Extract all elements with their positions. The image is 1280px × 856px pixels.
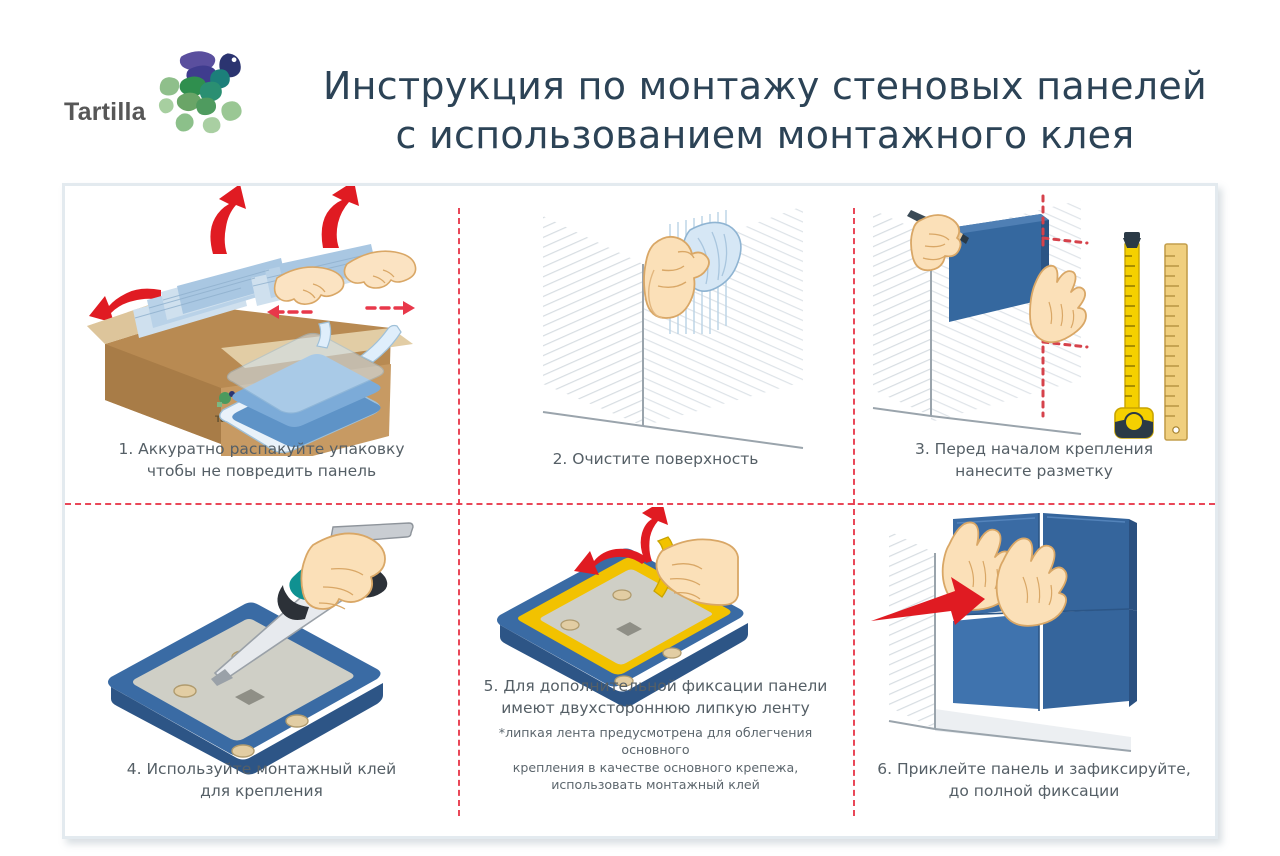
step-cell-5: 5. Для дополнительной фиксации панели им…: [458, 503, 853, 836]
illustration-clean-surface: [458, 186, 853, 466]
step-caption-6: 6. Приклейте панель и зафиксируйте, до п…: [853, 758, 1215, 802]
title-line-2: с использованием монтажного клея: [285, 111, 1245, 160]
caption-line-2: нанесите разметку: [955, 462, 1113, 480]
caption-line-1: 6. Приклейте панель и зафиксируйте,: [877, 760, 1191, 778]
step-cell-2: 2. Очистите поверхность: [458, 186, 853, 503]
divider-horizontal: [65, 503, 1215, 505]
caption-line-2: для крепления: [200, 782, 323, 800]
caption-line-1: 5. Для дополнительной фиксации панели: [484, 677, 828, 695]
step-caption-5: 5. Для дополнительной фиксации панели им…: [458, 675, 853, 794]
fineprint-line-2: крепления в качестве основного крепежа,: [513, 760, 798, 775]
instruction-poster: Tartilla: [0, 0, 1280, 856]
page-title: Инструкция по монтажу стеновых панелей с…: [285, 62, 1245, 159]
divider-vertical-1: [458, 208, 460, 816]
brand-name: Tartilla: [64, 54, 146, 127]
caption-line-1: 4. Используйте монтажный клей: [127, 760, 397, 778]
step-cell-1: Tartilla: [65, 186, 458, 503]
step-cell-6: 6. Приклейте панель и зафиксируйте, до п…: [853, 503, 1215, 836]
steps-frame: Tartilla: [62, 183, 1218, 839]
step-cell-3: 3. Перед началом крепления нанесите разм…: [853, 186, 1215, 503]
caption-line-1: 3. Перед началом крепления: [915, 440, 1153, 458]
fineprint-line-3: использовать монтажный клей: [551, 777, 760, 792]
step-caption-3: 3. Перед началом крепления нанесите разм…: [853, 438, 1215, 482]
title-line-1: Инструкция по монтажу стеновых панелей: [323, 64, 1207, 108]
step-caption-2: 2. Очистите поверхность: [458, 448, 853, 470]
step-caption-4: 4. Используйте монтажный клей для крепле…: [65, 758, 458, 802]
caption-line-2: чтобы не повредить панель: [147, 462, 376, 480]
illustration-apply-glue: [65, 509, 458, 779]
caption-line-2: до полной фиксации: [949, 782, 1120, 800]
fineprint-line-1: *липкая лента предусмотрена для облегчен…: [499, 725, 812, 757]
step-caption-1: 1. Аккуратно распакуйте упаковку чтобы н…: [65, 438, 458, 482]
caption-line-1: 2. Очистите поверхность: [553, 450, 759, 468]
step-cell-4: 4. Используйте монтажный клей для крепле…: [65, 503, 458, 836]
caption-line-1: 1. Аккуратно распакуйте упаковку: [118, 440, 404, 458]
brand-lockup: Tartilla: [64, 46, 248, 134]
steps-grid: Tartilla: [65, 186, 1215, 836]
poster-header: Tartilla: [0, 0, 1280, 180]
caption-line-2: имеют двухстороннюю липкую ленту: [501, 699, 810, 717]
illustration-press-panels: [853, 503, 1215, 763]
divider-vertical-2: [853, 208, 855, 816]
illustration-unpack-box: Tartilla: [65, 186, 458, 456]
step-5-fineprint: *липкая лента предусмотрена для облегчен…: [474, 724, 837, 794]
illustration-mark-wall: [853, 186, 1215, 456]
turtle-logo-icon: [156, 46, 248, 134]
